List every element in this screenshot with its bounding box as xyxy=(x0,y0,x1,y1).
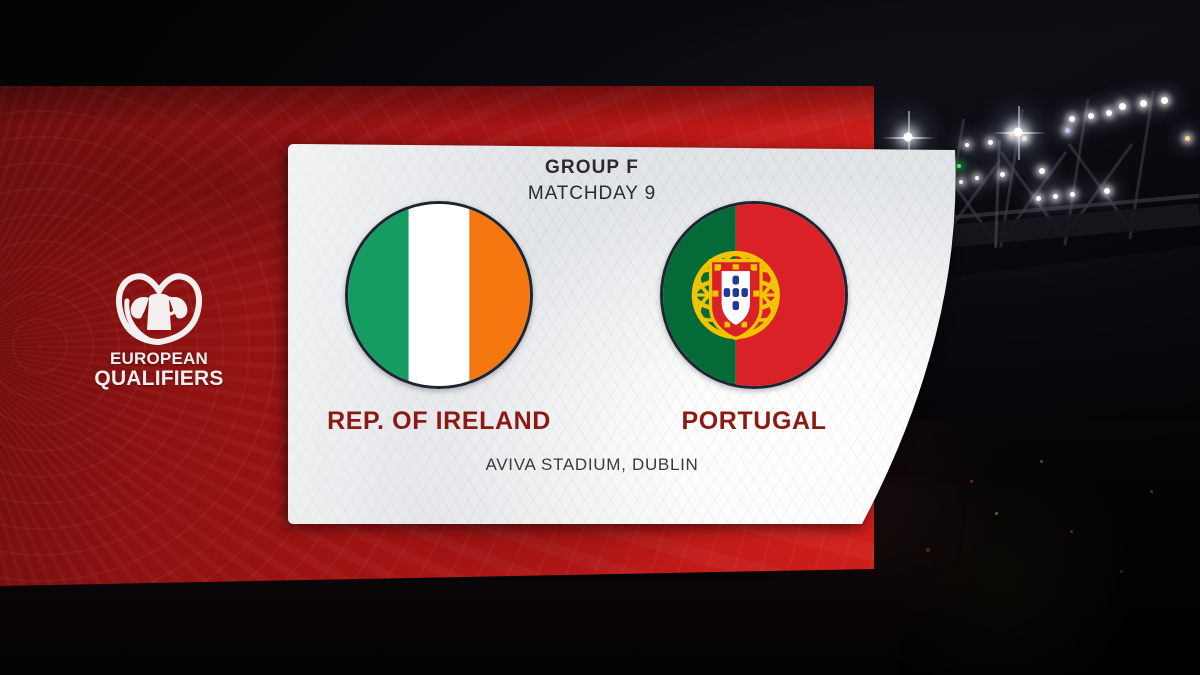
group-label: GROUP F xyxy=(282,157,902,179)
ireland-flag-icon xyxy=(345,201,533,389)
home-team-flag xyxy=(345,201,533,389)
home-team-name: REP. OF IRELAND xyxy=(312,407,566,436)
match-card-wrapper: GROUP F MATCHDAY 9 xyxy=(0,0,1200,675)
away-team-flag xyxy=(660,201,848,389)
card-header: GROUP F MATCHDAY 9 xyxy=(282,157,902,205)
venue-label: AVIVA STADIUM, DUBLIN xyxy=(282,455,902,475)
portugal-flag-icon xyxy=(660,201,848,389)
broadcast-screen: EUROPEAN QUALIFIERS GROUP F MATCHDAY 9 xyxy=(0,0,1200,675)
match-info-card: GROUP F MATCHDAY 9 xyxy=(282,143,966,535)
away-team-name: PORTUGAL xyxy=(627,407,881,436)
